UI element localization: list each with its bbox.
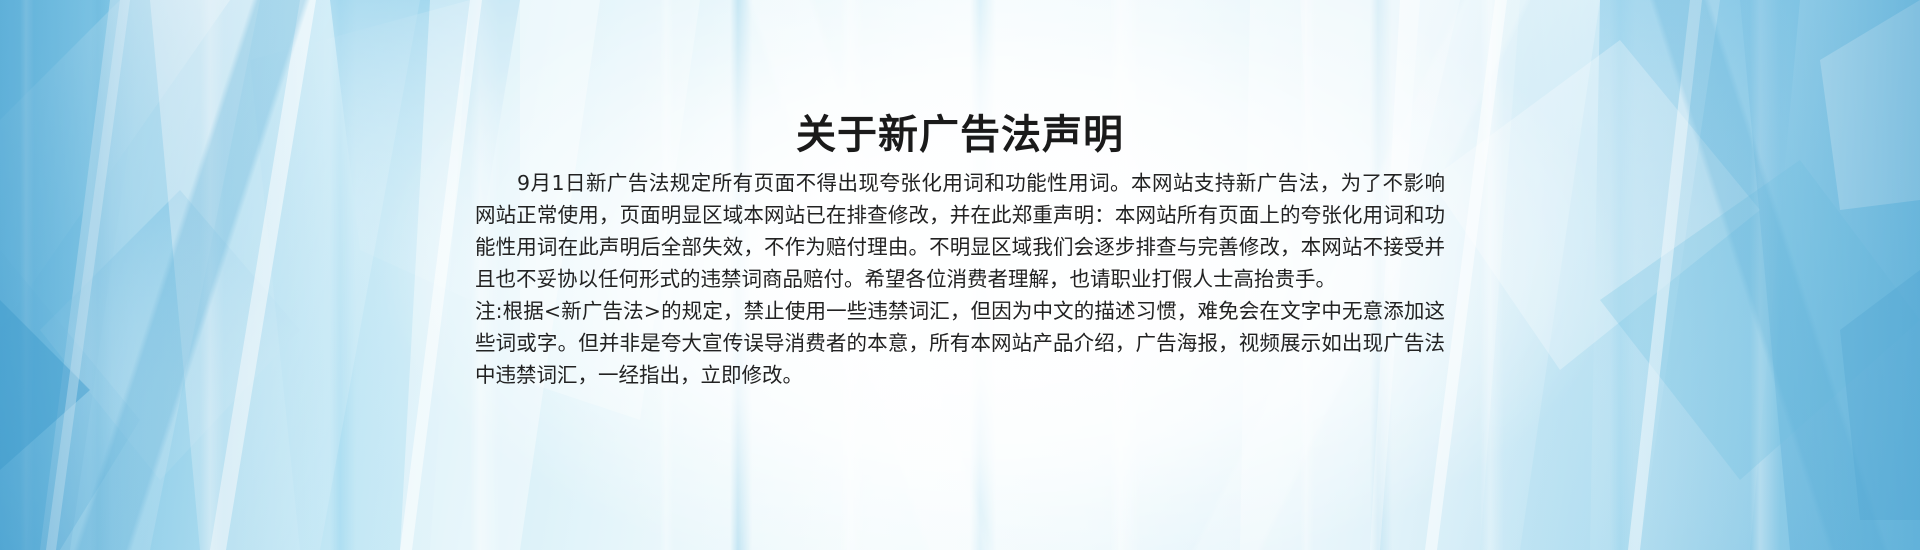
statement-content: 关于新广告法声明 9月1日新广告法规定所有页面不得出现夸张化用词和功能性用词。本… [455,0,1465,550]
page-title: 关于新广告法声明 [455,111,1465,159]
advertising-law-banner: 关于新广告法声明 9月1日新广告法规定所有页面不得出现夸张化用词和功能性用词。本… [0,0,1920,550]
statement-paragraph-1: 9月1日新广告法规定所有页面不得出现夸张化用词和功能性用词。本网站支持新广告法，… [475,167,1445,295]
statement-paragraph-2: 注:根据<新广告法>的规定，禁止使用一些违禁词汇，但因为中文的描述习惯，难免会在… [475,295,1445,391]
